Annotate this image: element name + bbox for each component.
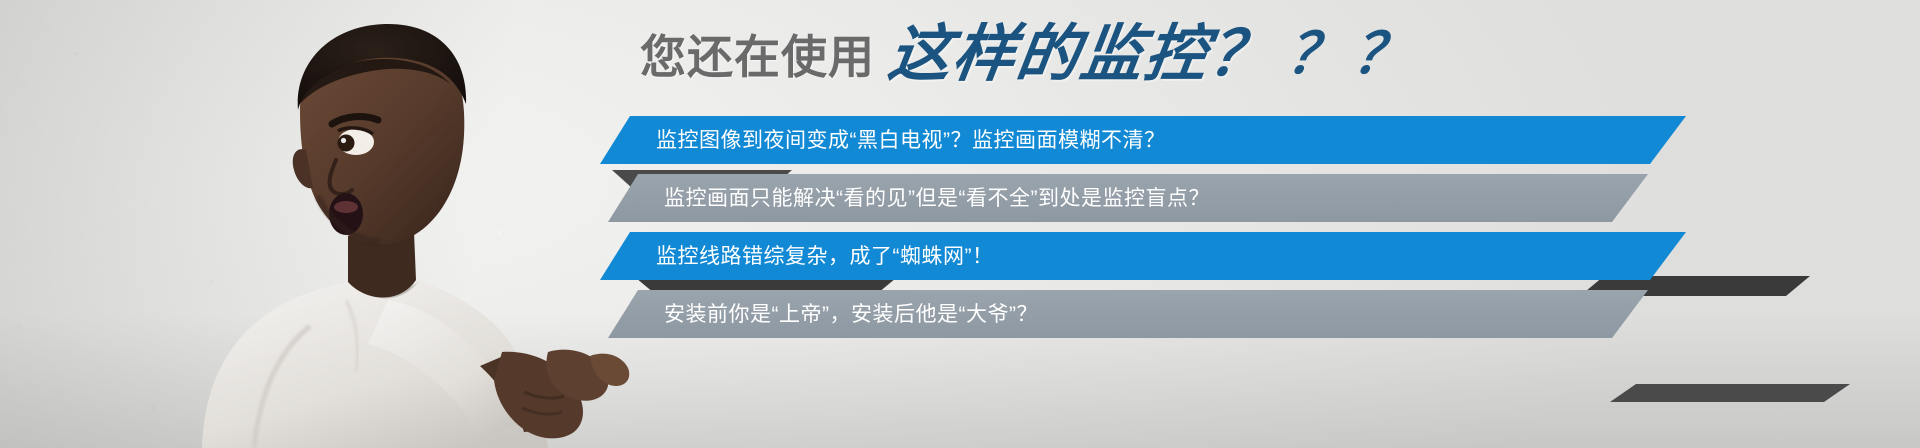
bullet-row: 监控线路错综复杂，成了“蜘蛛网”！: [600, 232, 1900, 288]
promo-banner: 您还在使用 这样的监控？ ？？ 监控图像到夜间变成“黑白电视”？监控画面模糊不清…: [0, 0, 1920, 448]
bullet-text-4: 安装前你是“上帝”，安装后他是“大爷”？: [608, 304, 1038, 325]
bullet-ribbon-4: 安装前你是“上帝”，安装后他是“大爷”？: [608, 290, 1648, 338]
headline-lead: 您还在使用: [640, 34, 875, 86]
bullet-ribbon-1: 监控图像到夜间变成“黑白电视”？监控画面模糊不清？: [600, 116, 1686, 164]
headline-emphasis: 这样的监控？: [885, 24, 1278, 86]
bullet-text-1: 监控图像到夜间变成“黑白电视”？监控画面模糊不清？: [600, 130, 1165, 151]
ribbon-tail-icon: [1650, 232, 1720, 280]
bullet-row: 安装前你是“上帝”，安装后他是“大爷”？: [600, 290, 1900, 346]
headline-question-marks: ？？: [1283, 26, 1423, 86]
bullet-ribbon-list: 监控图像到夜间变成“黑白电视”？监控画面模糊不清？ 监控画面只能解决“看的见”但…: [600, 116, 1900, 348]
bullet-row: 监控图像到夜间变成“黑白电视”？监控画面模糊不清？: [600, 116, 1900, 172]
bullet-text-2: 监控画面只能解决“看的见”但是“看不全”到处是监控盲点？: [608, 188, 1210, 209]
headline: 您还在使用 这样的监控？ ？？: [640, 24, 1419, 86]
ribbon-tail-icon: [1650, 116, 1720, 164]
bullet-ribbon-2: 监控画面只能解决“看的见”但是“看不全”到处是监控盲点？: [608, 174, 1648, 222]
bullet-ribbon-3: 监控线路错综复杂，成了“蜘蛛网”！: [600, 232, 1686, 280]
bullet-text-3: 监控线路错综复杂，成了“蜘蛛网”！: [600, 246, 994, 267]
decorative-wedge: [1610, 384, 1850, 402]
bullet-row: 监控画面只能解决“看的见”但是“看不全”到处是监控盲点？: [600, 174, 1900, 230]
